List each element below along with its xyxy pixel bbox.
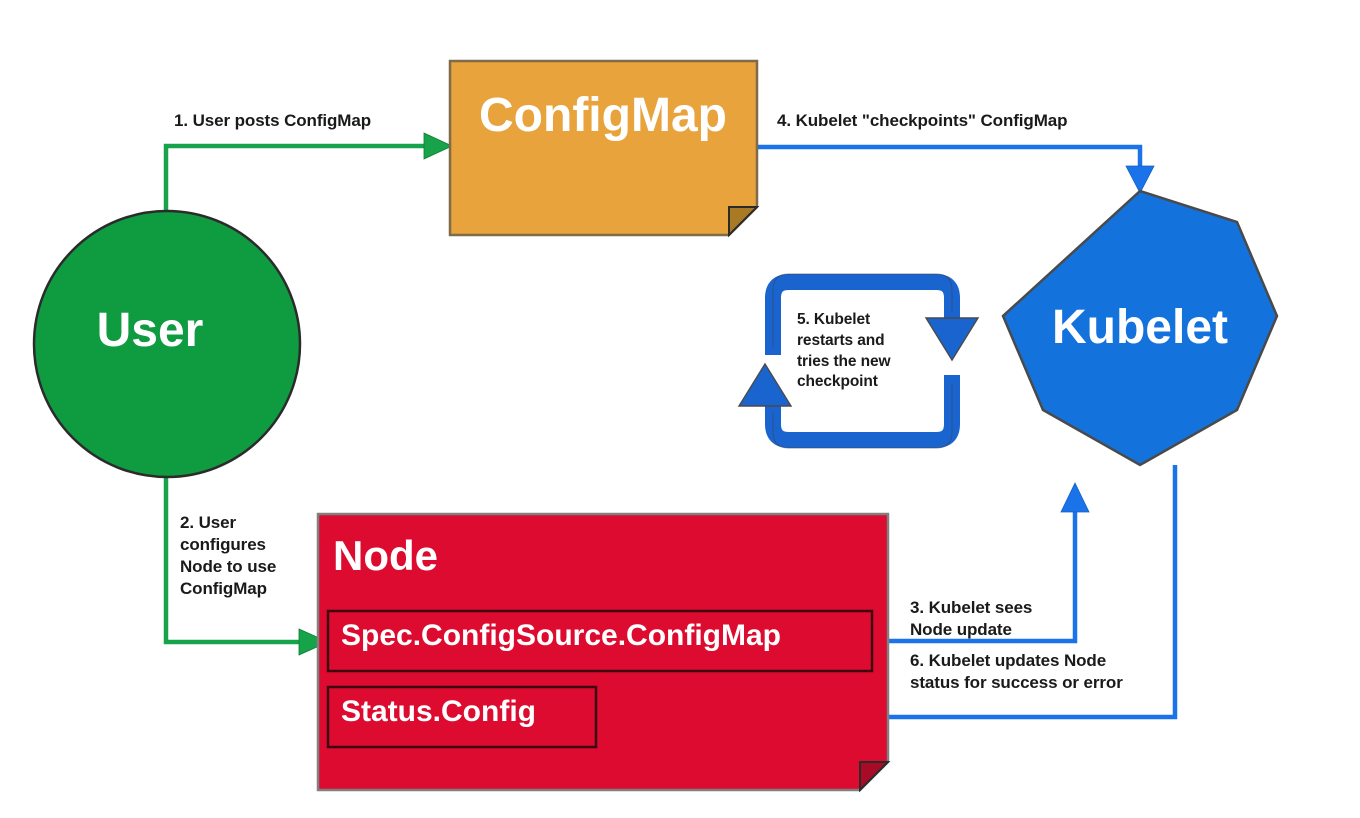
kubelet-heptagon [1003, 191, 1277, 465]
configmap-fold-corner-icon [729, 207, 757, 235]
configmap-shape[interactable] [450, 61, 757, 235]
step-2-label: 2. UserconfiguresNode to useConfigMap [180, 512, 276, 600]
step-1-label: 1. User posts ConfigMap [174, 110, 371, 132]
step-5-label: 5. Kubeletrestarts andtries the newcheck… [797, 310, 890, 393]
node-body [318, 514, 888, 790]
arrow-step-4-path [757, 147, 1140, 168]
step-4-label: 4. Kubelet "checkpoints" ConfigMap [777, 110, 1067, 132]
step-6-label: 6. Kubelet updates Nodestatus for succes… [910, 650, 1123, 694]
user-circle [34, 211, 300, 477]
arrow-step-5-down-head [926, 318, 978, 360]
kubelet-shape[interactable] [1003, 191, 1277, 465]
user-shape[interactable] [34, 211, 300, 477]
node-fold-corner-icon [860, 762, 888, 790]
configmap-body [450, 61, 757, 235]
arrow-step-3-head [1061, 483, 1089, 512]
node-shape[interactable] [318, 514, 888, 790]
arrow-step-4 [757, 147, 1154, 193]
arrow-step-5-up-head [739, 364, 791, 406]
arrow-step-1-path [166, 146, 436, 212]
diagram-canvas: User ConfigMap Kubelet Node Spec.ConfigS… [0, 0, 1360, 818]
arrow-step-1-head [424, 133, 452, 159]
arrow-step-4-head [1126, 166, 1154, 193]
arrow-step-1 [166, 133, 452, 212]
step-3-label: 3. Kubelet seesNode update [910, 597, 1032, 641]
